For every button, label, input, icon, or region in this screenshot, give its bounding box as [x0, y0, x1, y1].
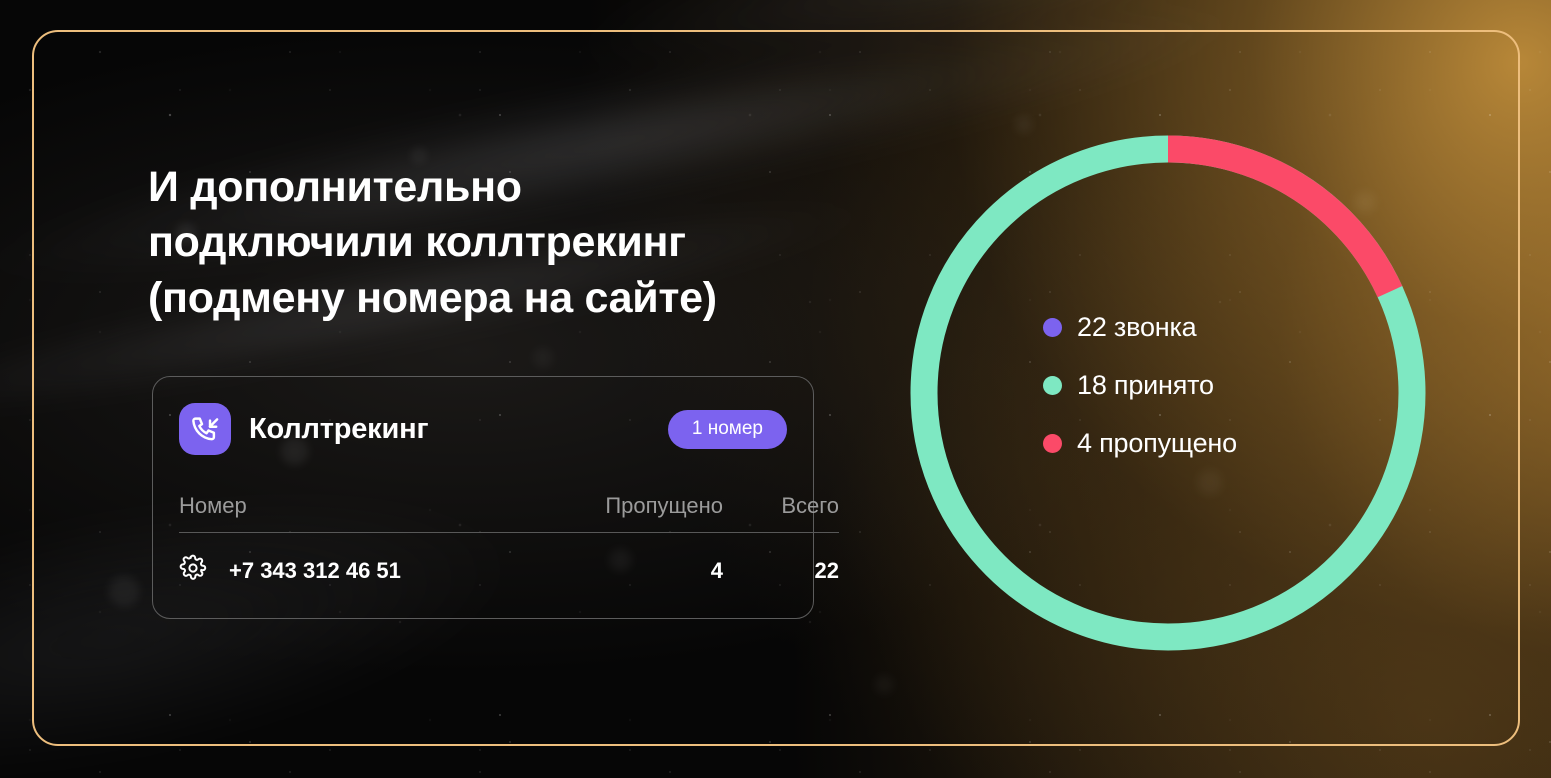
calltracking-card: Коллтрекинг 1 номер Номер Пропущено Всег… — [152, 376, 814, 619]
legend-item-answered: 18 принято — [1043, 370, 1237, 401]
card-title: Коллтрекинг — [249, 413, 428, 446]
legend-label-answered: 18 принято — [1077, 370, 1214, 401]
numbers-table: Номер Пропущено Всего +7 343 312 46 — [179, 493, 839, 588]
column-header-total: Всего — [723, 493, 839, 533]
slide-stage: И дополнительно подключили коллтрекинг (… — [0, 0, 1551, 778]
legend-dot-answered — [1043, 376, 1062, 395]
legend-label-total: 22 звонка — [1077, 312, 1197, 343]
legend-label-missed: 4 пропущено — [1077, 428, 1237, 459]
legend-dot-missed — [1043, 434, 1062, 453]
column-header-missed: Пропущено — [551, 493, 723, 533]
phone-number-text: +7 343 312 46 51 — [229, 558, 401, 584]
legend-dot-total — [1043, 318, 1062, 337]
table-header-row: Номер Пропущено Всего — [179, 493, 839, 533]
cell-total: 22 — [723, 533, 839, 589]
status-badge[interactable]: 1 номер — [668, 410, 787, 449]
cell-number: +7 343 312 46 51 — [179, 533, 551, 588]
chart-legend: 22 звонка 18 принято 4 пропущено — [1043, 312, 1237, 459]
card-header: Коллтрекинг 1 номер — [179, 403, 787, 455]
incoming-call-icon — [179, 403, 231, 455]
page-title: И дополнительно подключили коллтрекинг (… — [148, 160, 868, 326]
column-header-number: Номер — [179, 493, 551, 533]
table-row[interactable]: +7 343 312 46 51 4 22 — [179, 533, 839, 589]
legend-item-missed: 4 пропущено — [1043, 428, 1237, 459]
gear-icon[interactable] — [179, 554, 207, 588]
legend-item-total: 22 звонка — [1043, 312, 1237, 343]
cell-missed: 4 — [551, 533, 723, 589]
